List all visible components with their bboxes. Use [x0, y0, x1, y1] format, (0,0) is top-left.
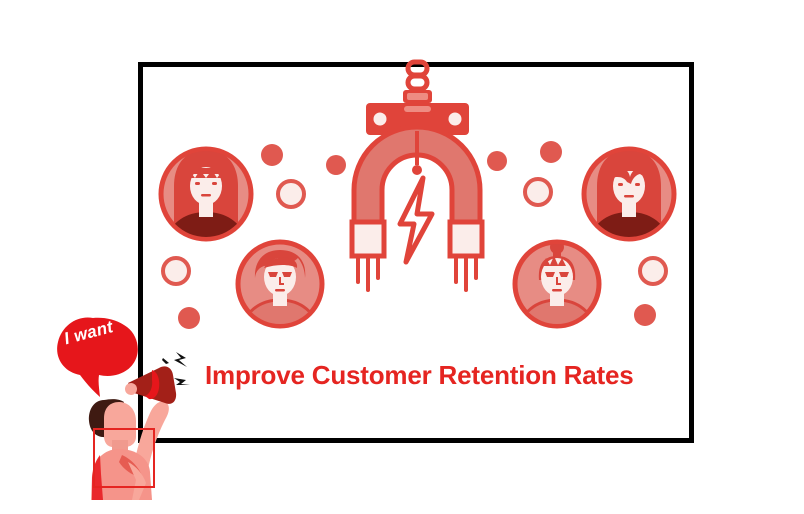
- page-title: Improve Customer Retention Rates: [205, 361, 633, 390]
- megaphone-handle: [125, 383, 137, 395]
- speech-bubble-label: I want: [62, 317, 115, 349]
- person-highlight-box: [93, 428, 155, 488]
- illustration-canvas: Improve Customer Retention Rates I want: [0, 0, 804, 514]
